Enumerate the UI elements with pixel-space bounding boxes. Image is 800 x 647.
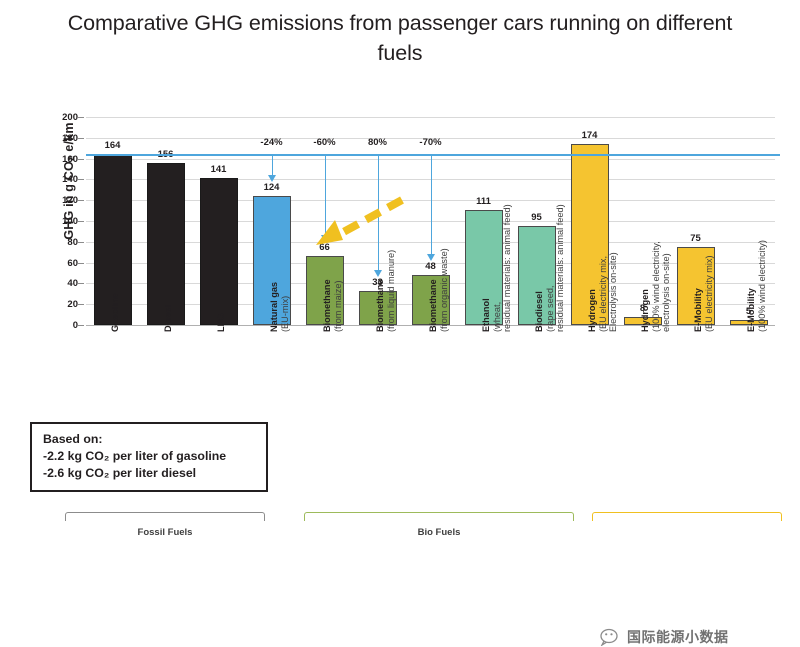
x-axis-sublabel-text: (EU electricity mix) [704,255,714,332]
x-axis-sublabel: (EU electricity mix) [704,255,715,332]
bar-diesel[interactable] [147,163,185,325]
x-axis-label: Biomethane [375,279,386,332]
bar-value-label: 174 [565,131,615,141]
watermark-text: 国际能源小数据 [627,627,729,647]
x-axis-label: E-Mobility [693,288,704,332]
x-axis-sublabel: (100% wind electricity) [757,240,768,332]
x-axis-sublabel: residual materials: animal feed) [555,204,566,332]
x-axis-sublabel: (wheat, [492,302,503,332]
y-tick-label: 60 [38,259,78,268]
percent-annotation: -60% [295,138,355,148]
x-axis-label: Diesel [163,305,174,332]
x-axis-label-main: Biomethane [375,279,385,332]
x-axis-sublabel-text: (EU electricity mix, [598,256,608,332]
x-axis-label: Hydrogen [587,289,598,332]
x-axis-sublabel-text: residual materials: animal feed) [502,204,512,332]
x-axis-label-main: E-Mobility [746,288,756,332]
bar-value-label: 95 [512,213,562,223]
bracket-label-bio-fuels: Bio Fuels [304,527,574,538]
x-axis-sublabel-text: (100% wind electricity) [757,240,767,332]
y-tick-label: 100 [38,217,78,226]
reference-line-164 [86,154,780,156]
x-axis-sublabel-text: (rape seed, [545,286,555,332]
x-axis-label: Biomethane [428,279,439,332]
x-axis-sublabel: residual materials: animal feed) [502,204,513,332]
y-tick-mark [78,283,84,284]
bracket-fossil-fuels [65,512,265,521]
x-axis-sublabel-text: (100% wind electricity, [651,241,661,332]
bar-value-label: 164 [88,141,138,151]
percent-arrow-icon [272,154,273,176]
x-axis-sublabel: (EU electricity mix, [598,256,609,332]
y-tick-label: 40 [38,279,78,288]
x-axis-label-main: LPG [216,313,226,332]
y-tick-label: 80 [38,238,78,247]
x-axis-label: Gasoline [110,293,121,332]
x-axis-label: Hydrogen [640,289,651,332]
bracket-label-fossil-fuels: Fossil Fuels [65,527,265,538]
x-axis-label: LPG [216,313,227,332]
x-axis-label: Biomethane [322,279,333,332]
y-tick-label: 120 [38,196,78,205]
based-on-line3: -2.6 kg CO₂ per liter diesel [43,465,257,482]
x-axis-sublabel-text: Electrolysis on-site) [608,252,618,332]
x-axis-sublabel-text: (from maize) [333,280,343,332]
x-axis-sublabel: electrolysis on-site) [661,253,672,332]
y-tick-mark [78,117,84,118]
based-on-line1: Based on: [43,431,257,448]
y-tick-mark [78,325,84,326]
x-axis-sublabel-text: electrolysis on-site) [661,253,671,332]
y-tick-label: 0 [38,321,78,330]
bar-lpg[interactable] [200,178,238,325]
x-axis-label: Natural gas [269,282,280,332]
x-axis-label-main: Hydrogen [587,289,597,332]
y-tick-mark [78,200,84,201]
percent-arrow-icon [431,154,432,255]
bar-value-label: 111 [459,197,509,207]
x-axis-sublabel-text: (EU-mix) [280,296,290,332]
x-axis-sublabel: (from liquid manure) [386,250,397,332]
x-axis-label-main: Diesel [163,305,173,332]
x-axis-sublabel: (EU-mix) [280,296,291,332]
y-tick-mark [78,242,84,243]
x-axis-sublabel: (rape seed, [545,286,556,332]
x-axis-label-main: Biomethane [322,279,332,332]
y-tick-label: 160 [38,155,78,164]
percent-annotation: -24% [242,138,302,148]
x-axis-label-main: Hydrogen [640,289,650,332]
bar-value-label: 75 [671,234,721,244]
y-tick-mark [78,159,84,160]
x-axis-sublabel-text: (from organic waste) [439,248,449,332]
x-axis-label-main: Biomethane [428,279,438,332]
y-tick-label: 180 [38,134,78,143]
wechat-icon [600,628,622,646]
x-axis-sublabel-text: (from liquid manure) [386,250,396,332]
y-tick-label: 20 [38,300,78,309]
percent-annotation: -70% [401,138,461,148]
y-tick-mark [78,304,84,305]
x-axis-label: Biodiesel [534,291,545,332]
x-axis-label-main: Gasoline [110,293,120,332]
bracket-bio-fuels [304,512,574,521]
x-axis-label-main: Natural gas [269,282,279,332]
bracket-electric-fuels [592,512,782,521]
x-axis-sublabel-text: (wheat, [492,302,502,332]
page-title: Comparative GHG emissions from passenger… [50,8,750,68]
x-axis-sublabel: (from maize) [333,280,344,332]
x-axis-label-main: E-Mobility [693,288,703,332]
x-axis-label-main: Ethanol [481,298,491,332]
x-axis-label: Ethanol [481,298,492,332]
y-tick-mark [78,179,84,180]
chart-container: GHG in g CO₂ e/km 0204060801001201401601… [0,100,800,573]
x-axis-sublabel: (from organic waste) [439,248,450,332]
y-tick-mark [78,221,84,222]
based-on-box: Based on: -2.2 kg CO₂ per liter of gasol… [30,422,268,492]
gold-dashed-arrow-icon [298,195,408,247]
based-on-line2: -2.2 kg CO₂ per liter of gasoline [43,448,257,465]
y-tick-label: 200 [38,113,78,122]
bar-value-label: 141 [194,165,244,175]
x-axis-label-main: Biodiesel [534,291,544,332]
y-tick-mark [78,138,84,139]
y-tick-mark [78,263,84,264]
x-axis-label: E-Mobility [746,288,757,332]
x-axis-sublabel: Electrolysis on-site) [608,252,619,332]
percent-annotation: 80% [348,138,408,148]
y-tick-label: 140 [38,175,78,184]
x-axis-sublabel: (100% wind electricity, [651,241,662,332]
bar-value-label: 124 [247,183,297,193]
watermark: 国际能源小数据 [600,627,729,647]
x-axis-sublabel-text: residual materials: animal feed) [555,204,565,332]
